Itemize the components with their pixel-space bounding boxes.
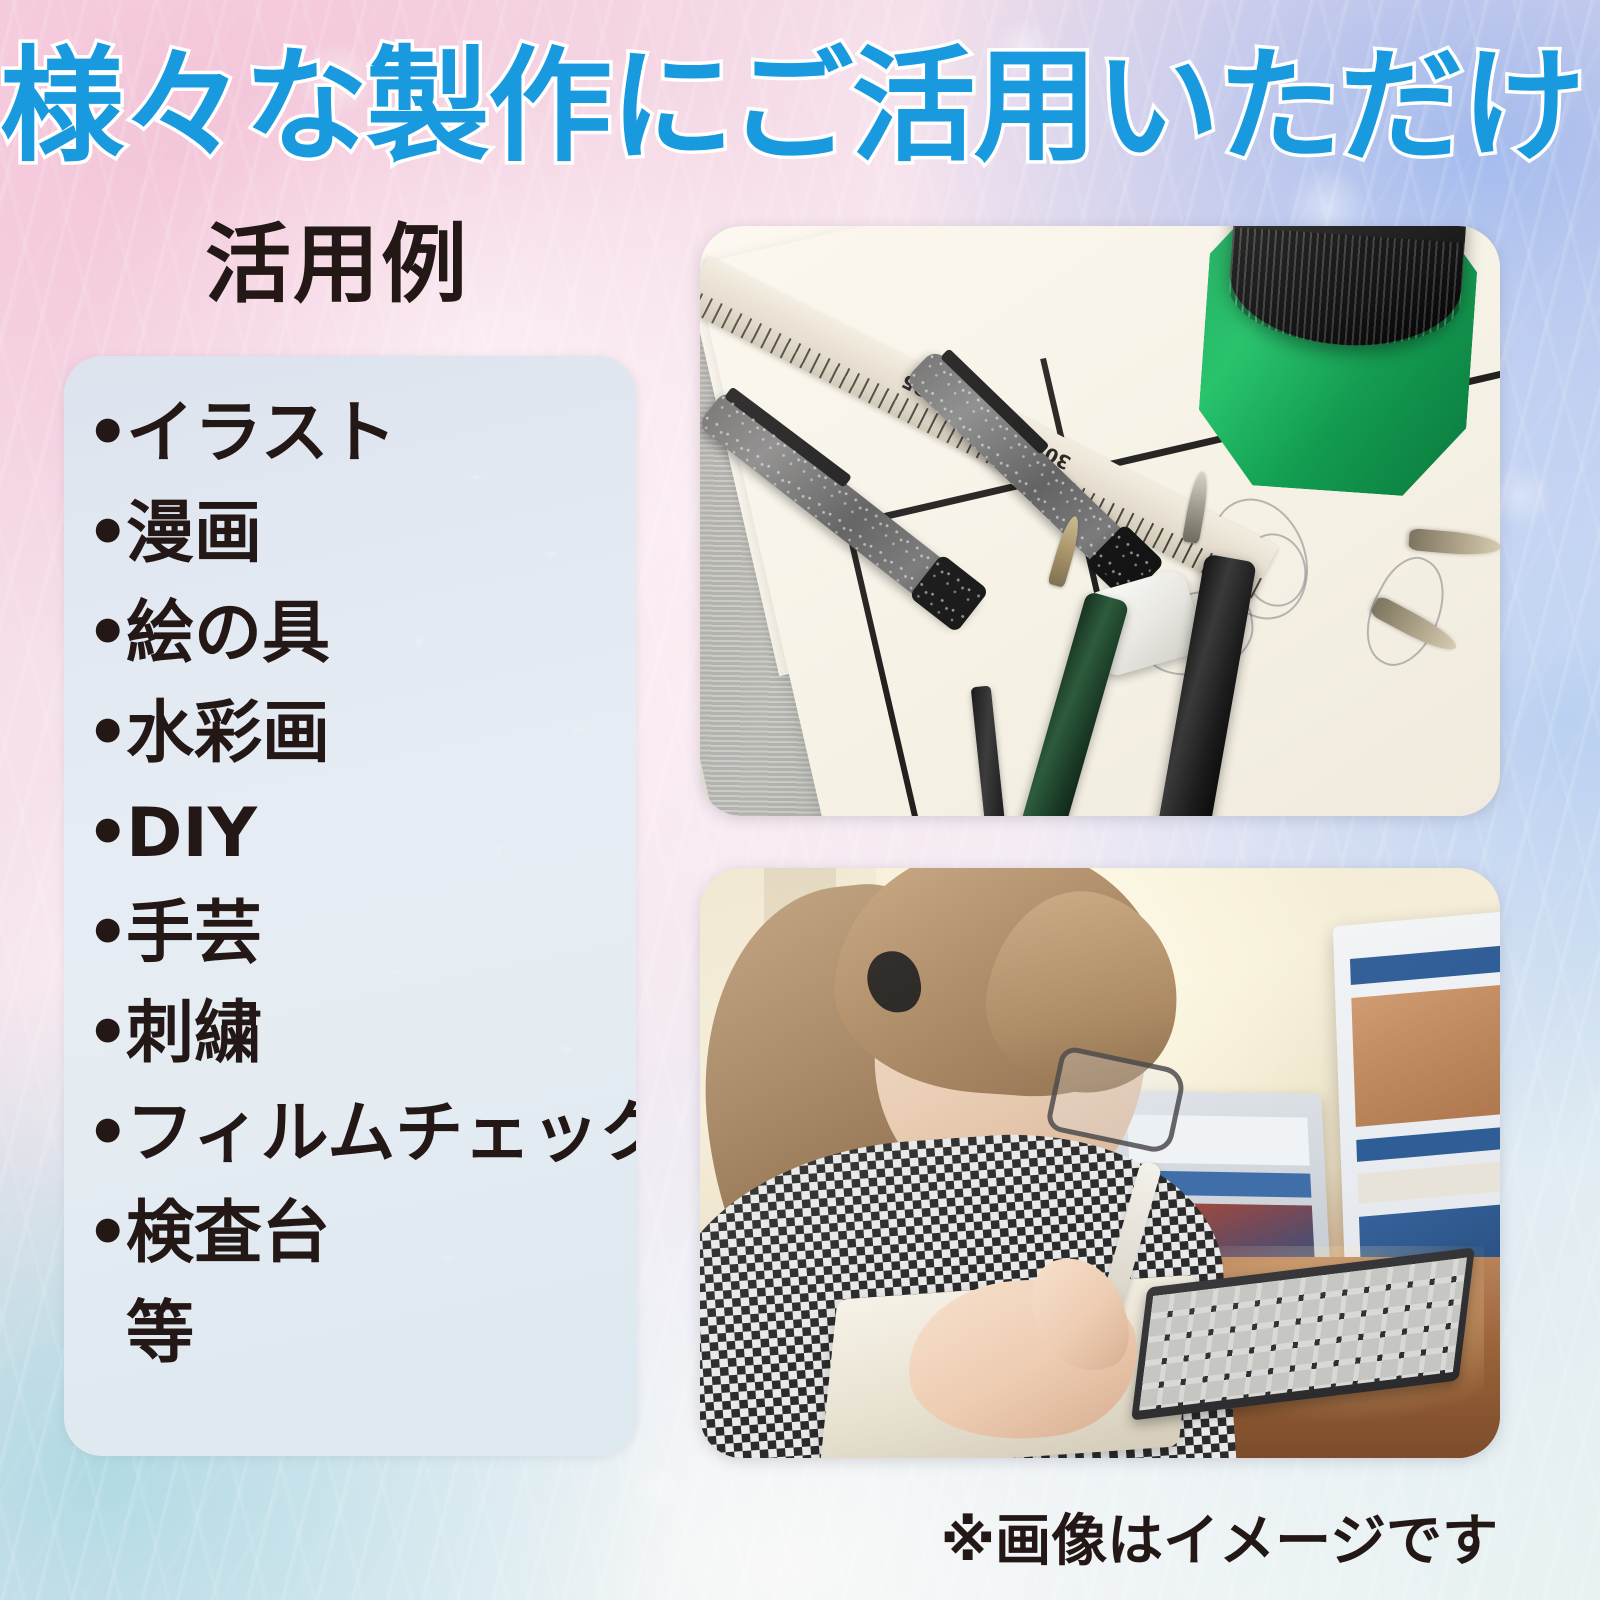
- screen-content: [1350, 940, 1500, 986]
- list-item-label: 等: [126, 1300, 194, 1368]
- list-item: • 刺繍: [86, 1000, 636, 1100]
- page-title: 様々な製作にご活用いただけます: [0, 38, 1600, 177]
- list-item: • DIY: [86, 800, 636, 900]
- section-title: 活用例: [205, 222, 469, 308]
- list-item-label: 漫画: [126, 500, 262, 568]
- bullet-icon: •: [86, 1100, 126, 1168]
- screen-content: [1356, 1120, 1500, 1161]
- list-item-label: 検査台: [126, 1200, 330, 1268]
- list-item: • フィルムチェック: [86, 1100, 636, 1200]
- list-item-label: 絵の具: [126, 600, 330, 668]
- bullet-icon: •: [86, 600, 126, 668]
- list-item-label: フィルムチェック: [126, 1100, 636, 1168]
- photo-woman-at-desk: [700, 868, 1500, 1458]
- list-item: 等: [86, 1300, 636, 1400]
- list-item-label: 水彩画: [126, 700, 330, 768]
- list-item-label: DIY: [126, 800, 257, 868]
- bullet-icon: •: [86, 500, 126, 568]
- list-item: • 絵の具: [86, 600, 636, 700]
- bullet-icon: •: [86, 800, 126, 868]
- bullet-icon: •: [86, 1000, 126, 1068]
- screen-content: [1351, 978, 1500, 1127]
- usage-list: • イラスト • 漫画 • 絵の具 • 水彩画 • DIY • 手芸: [64, 356, 636, 1456]
- photo-manga-drawing-tools: 25 30: [700, 226, 1500, 816]
- list-item-label: 手芸: [126, 900, 262, 968]
- promo-poster: 様々な製作にご活用いただけます 活用例 • イラスト • 漫画 • 絵の具 • …: [0, 0, 1600, 1600]
- list-item: • 水彩画: [86, 700, 636, 800]
- list-item: • イラスト: [86, 400, 636, 500]
- list-item: • 手芸: [86, 900, 636, 1000]
- bullet-icon: •: [86, 400, 126, 468]
- manga-scene: 25 30: [700, 226, 1500, 816]
- list-item: • 漫画: [86, 500, 636, 600]
- bullet-icon: •: [86, 900, 126, 968]
- disclaimer-note: ※画像はイメージです: [941, 1496, 1498, 1577]
- list-item: • 検査台: [86, 1200, 636, 1300]
- list-item-label: イラスト: [126, 400, 397, 468]
- desk-scene: [700, 868, 1500, 1458]
- usage-list-card: • イラスト • 漫画 • 絵の具 • 水彩画 • DIY • 手芸: [64, 356, 636, 1456]
- bullet-icon: •: [86, 700, 126, 768]
- bullet-icon: •: [86, 1200, 126, 1268]
- list-item-label: 刺繍: [126, 1000, 262, 1068]
- screen-content: [1357, 1155, 1500, 1205]
